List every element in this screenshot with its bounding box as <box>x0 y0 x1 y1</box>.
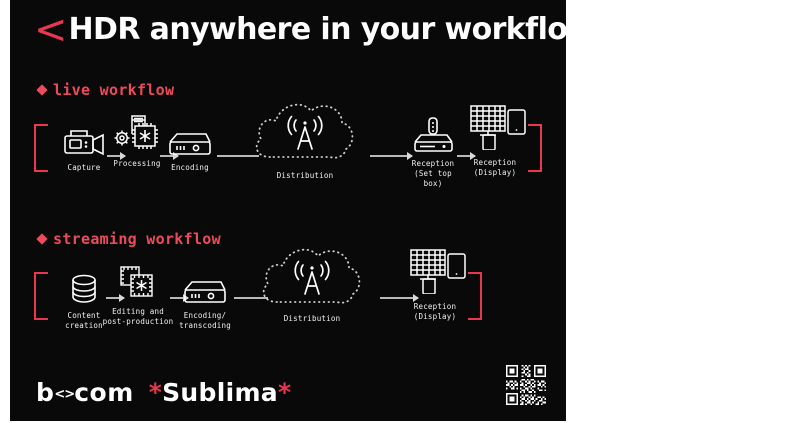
node-encoding-transcoding[interactable]: Encoding/ transcoding <box>170 260 240 331</box>
display-devices-icon <box>400 248 470 294</box>
node-editing-post-production[interactable]: Editing and post-production <box>100 256 176 327</box>
sublima-logo: *Sublima* <box>149 378 292 407</box>
sublima-asterisk-right-icon: * <box>278 378 291 407</box>
sublima-logo-text: Sublima <box>162 378 278 407</box>
bracket-open-live <box>34 124 48 172</box>
encoder-server-icon <box>158 112 222 158</box>
bcom-logo-b: b <box>36 378 54 407</box>
bcom-logo-chevron-icon: <> <box>54 387 74 402</box>
sublima-asterisk-left-icon: * <box>149 378 162 407</box>
page-title: < HDR anywhere in your workflows > <box>34 10 566 50</box>
set-top-box-icon <box>402 108 464 154</box>
node-reception-display-streaming[interactable]: Reception (Display) <box>400 248 470 322</box>
bcom-logo: b<>com <box>36 378 134 407</box>
node-reception-display-live[interactable]: Reception (Display) <box>460 104 530 178</box>
diamond-bullet-icon <box>36 84 47 95</box>
node-label: Editing and post-production <box>100 307 176 327</box>
node-distribution-live[interactable]: Distribution <box>250 91 360 180</box>
section-label-live: live workflow <box>53 81 174 99</box>
node-label: Reception (Display) <box>400 302 470 322</box>
footer-branding: b<>com *Sublima* <box>36 378 291 407</box>
bracket-open-streaming <box>34 272 48 320</box>
film-frames-icon <box>100 256 176 302</box>
node-label: Reception (Display) <box>460 158 530 178</box>
section-header-live: live workflow <box>38 81 174 99</box>
bracket-close-streaming <box>468 272 482 320</box>
encoder-server-icon <box>170 260 240 306</box>
title-text: HDR anywhere in your workflows <box>69 15 566 45</box>
node-distribution-streaming[interactable]: Distribution <box>257 236 367 323</box>
node-label: Encoding/ transcoding <box>170 311 240 331</box>
broadcast-tower-cloud-icon <box>257 236 367 322</box>
node-label: Encoding <box>158 163 222 173</box>
section-label-streaming: streaming workflow <box>53 230 221 248</box>
display-devices-icon <box>460 104 530 150</box>
title-bracket-left-icon: < <box>34 10 68 50</box>
node-encoding[interactable]: Encoding <box>158 112 222 173</box>
workflow-row-streaming: Content creation Editing and post-produc… <box>10 250 566 355</box>
bracket-close-live <box>528 124 542 172</box>
node-label: Reception (Set top box) <box>402 159 464 189</box>
slide-canvas: < HDR anywhere in your workflows > live … <box>10 0 566 421</box>
qr-code[interactable] <box>504 363 548 407</box>
diamond-bullet-icon <box>36 233 47 244</box>
bcom-logo-com: com <box>74 378 134 407</box>
node-reception-set-top-box[interactable]: Reception (Set top box) <box>402 108 464 189</box>
workflow-row-live: Capture Processing <box>10 100 566 210</box>
section-header-streaming: streaming workflow <box>38 230 221 248</box>
broadcast-tower-cloud-icon <box>250 91 360 177</box>
